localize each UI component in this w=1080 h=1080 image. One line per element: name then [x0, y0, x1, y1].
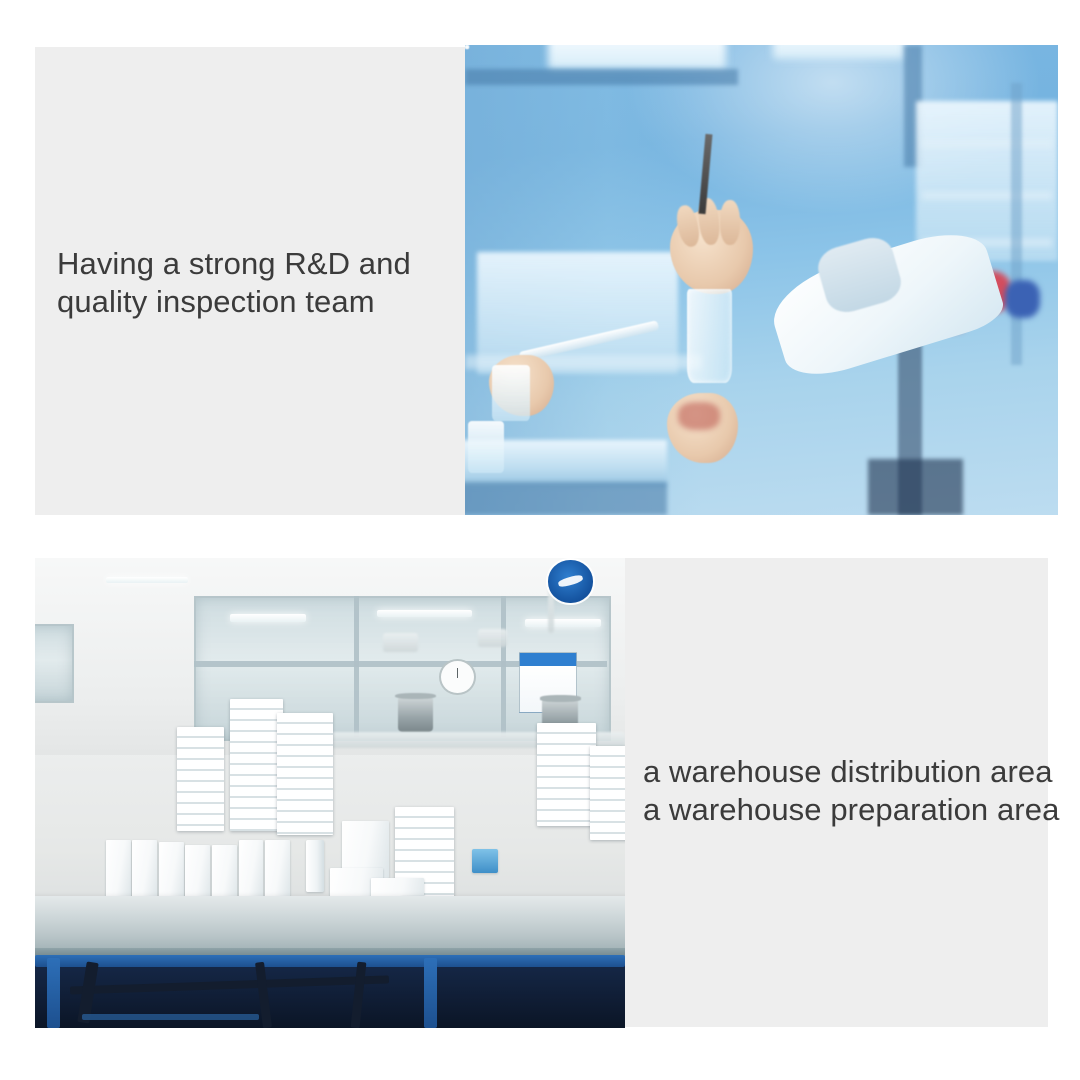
stainless-steel-table — [35, 896, 625, 952]
floor-marking — [82, 1014, 259, 1021]
blue-packaging-item — [472, 849, 499, 873]
ceiling-light-icon — [548, 45, 726, 69]
white-carton — [132, 840, 157, 903]
lab-bench-shadow — [465, 482, 667, 515]
window-mullion — [501, 596, 506, 737]
box-stack — [230, 699, 283, 831]
lab-shelf — [922, 139, 1052, 148]
sample-residue — [678, 402, 720, 430]
cleanroom-window-small — [35, 624, 74, 703]
box-stack — [590, 746, 625, 840]
ceiling-strip-light — [230, 614, 307, 622]
warehouse-packing-photo — [35, 558, 625, 1028]
finger — [720, 200, 740, 245]
lab-shelf — [922, 191, 1052, 200]
ceiling-strip-light — [525, 619, 602, 627]
box-stack — [177, 727, 224, 830]
lab-ceiling-beam — [465, 69, 738, 85]
white-carton — [106, 840, 131, 901]
hanging-fixture — [478, 629, 508, 648]
glass-beaker — [468, 421, 504, 473]
table-leg-blue — [47, 958, 60, 1029]
blue-circular-sign-icon — [548, 560, 592, 602]
box-stack — [537, 723, 596, 826]
warehouse-caption-line-1: a warehouse distribution area — [643, 753, 1053, 791]
window-mullion — [354, 596, 359, 737]
box-stack — [277, 713, 333, 835]
rnd-caption-line-1: Having a strong R&D and — [57, 245, 411, 283]
ceiling-strip-light — [377, 610, 471, 618]
ceiling-light-icon — [773, 45, 903, 59]
white-tube — [306, 840, 324, 892]
hanging-fixture — [383, 633, 418, 652]
lab-equipment-base — [868, 459, 963, 515]
white-carton — [239, 840, 264, 901]
safety-glasses-icon — [465, 45, 469, 49]
ceiling-strip-light — [106, 577, 189, 584]
glass-beaker — [492, 365, 531, 421]
stainless-container — [398, 697, 433, 732]
lab-reagent-bottles — [1005, 280, 1041, 318]
table-leg-blue — [424, 958, 437, 1029]
sample-vial — [687, 289, 731, 383]
white-carton — [265, 840, 290, 899]
warehouse-caption-line-2: a warehouse preparation area — [643, 791, 1059, 829]
wall-clock-icon — [439, 659, 475, 695]
table-frame-blue — [35, 955, 625, 967]
lab-support-pole — [1011, 83, 1023, 365]
lab-quality-inspection-photo — [465, 45, 1058, 515]
rnd-caption-line-2: quality inspection team — [57, 283, 375, 321]
